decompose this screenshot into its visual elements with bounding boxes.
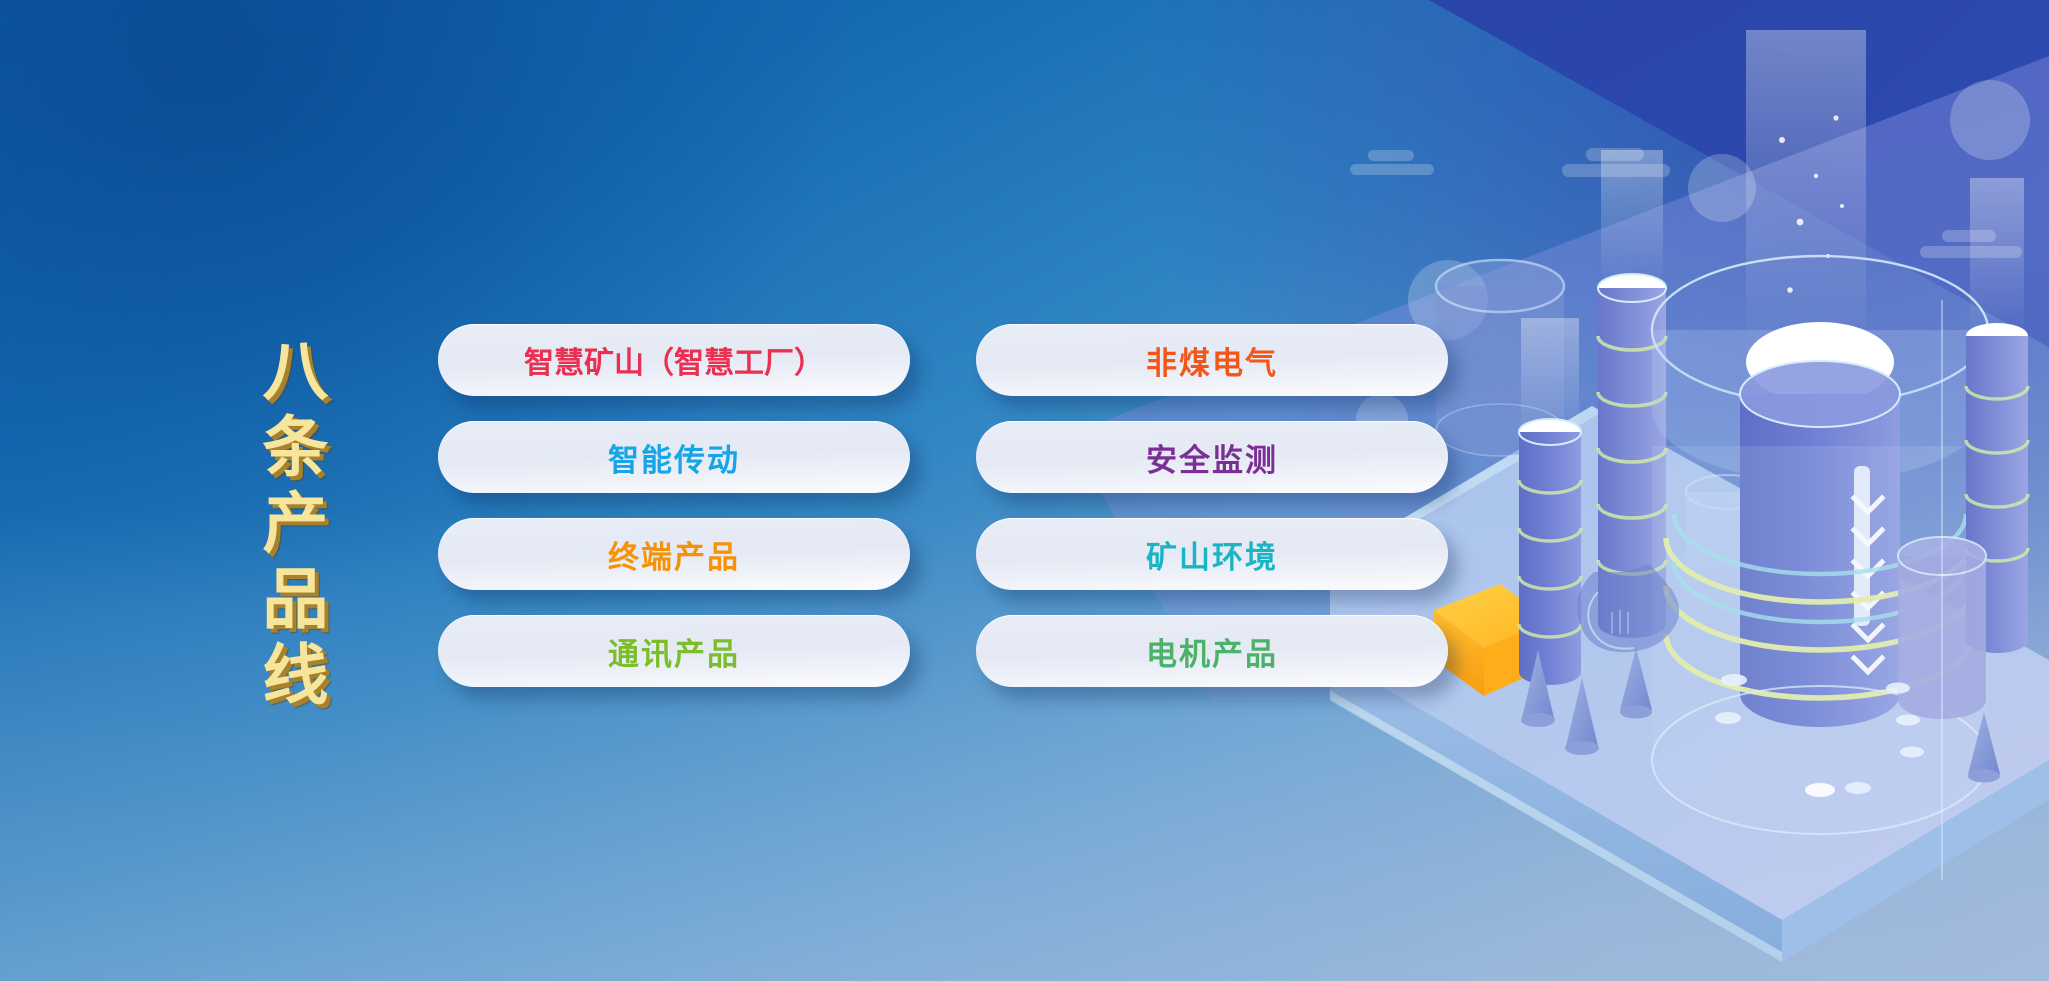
product-line-motor-product[interactable]: 电机产品 [976,615,1448,687]
product-line-comm-product[interactable]: 通讯产品 [438,615,910,687]
product-line-smart-mine[interactable]: 智慧矿山（智慧工厂） [438,324,910,396]
product-line-label: 智慧矿山（智慧工厂） [524,338,824,382]
product-line-safety-monitor[interactable]: 安全监测 [976,421,1448,493]
product-line-label: 电机产品 [1146,629,1278,674]
product-line-label: 矿山环境 [1146,532,1278,577]
product-line-grid: 智慧矿山（智慧工厂） 非煤电气 智能传动 安全监测 终端产品 矿山环境 [438,324,1448,712]
product-line-label: 非煤电气 [1146,338,1278,383]
product-line-label: 终端产品 [608,532,740,577]
product-line-non-coal-electric[interactable]: 非煤电气 [976,324,1448,396]
product-line-smart-drive[interactable]: 智能传动 [438,421,910,493]
product-line-row: 终端产品 矿山环境 [438,518,1448,590]
product-line-row: 通讯产品 电机产品 [438,615,1448,687]
product-line-label: 安全监测 [1146,435,1278,480]
product-line-terminal-product[interactable]: 终端产品 [438,518,910,590]
product-line-mine-environment[interactable]: 矿山环境 [976,518,1448,590]
product-line-row: 智慧矿山（智慧工厂） 非煤电气 [438,324,1448,396]
product-line-row: 智能传动 安全监测 [438,421,1448,493]
product-line-label: 智能传动 [608,435,740,480]
product-line-label: 通讯产品 [608,629,740,674]
page-title: 八条产品线 [256,336,323,716]
banner-stage: 八条产品线 智慧矿山（智慧工厂） 非煤电气 智能传动 安全监测 终端产品 矿山环 [0,0,2049,981]
